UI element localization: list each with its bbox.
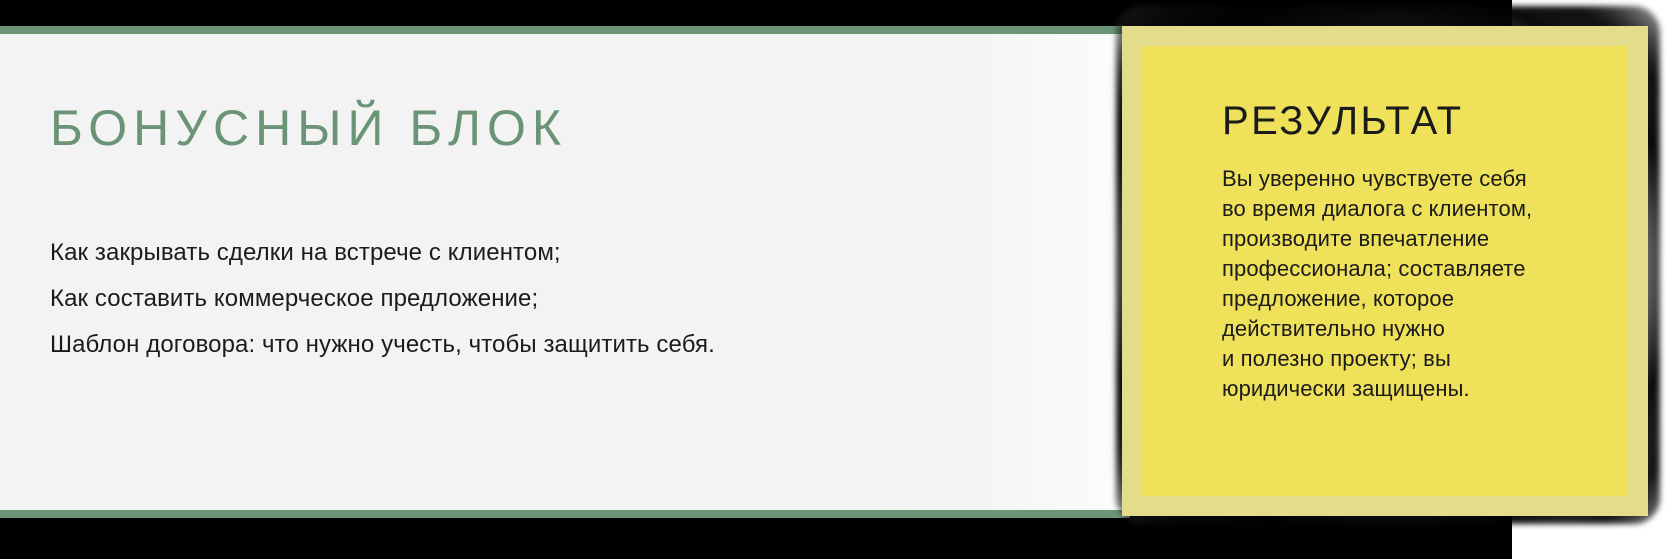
result-card-body: Вы уверенно чувствуете себя во время диа… — [1222, 164, 1622, 404]
bonus-panel-surface: БОНУСНЫЙ БЛОК Как закрывать сделки на вс… — [0, 34, 1122, 510]
result-body-line: производите впечатление — [1222, 224, 1622, 254]
bonus-panel: БОНУСНЫЙ БЛОК Как закрывать сделки на вс… — [0, 26, 1130, 518]
result-body-line: во время диалога с клиентом, — [1222, 194, 1622, 224]
bonus-panel-title: БОНУСНЫЙ БЛОК — [50, 102, 567, 155]
slide-root: БОНУСНЫЙ БЛОК Как закрывать сделки на вс… — [0, 0, 1680, 559]
result-body-line: и полезно проекту; вы — [1222, 344, 1622, 374]
bonus-list-item: Шаблон договора: что нужно учесть, чтобы… — [50, 322, 950, 368]
result-body-line: действительно нужно — [1222, 314, 1622, 344]
bonus-item-list: Как закрывать сделки на встрече с клиент… — [50, 230, 950, 368]
result-body-line: профессионала; составляете — [1222, 254, 1622, 284]
result-body-line: Вы уверенно чувствуете себя — [1222, 164, 1622, 194]
result-card-surface: РЕЗУЛЬТАТ Вы уверенно чувствуете себя во… — [1142, 46, 1628, 496]
bonus-list-item: Как закрывать сделки на встрече с клиент… — [50, 230, 950, 276]
result-body-line: предложение, которое — [1222, 284, 1622, 314]
result-body-line: юридически защищены. — [1222, 374, 1622, 404]
result-card-container: РЕЗУЛЬТАТ Вы уверенно чувствуете себя во… — [1122, 20, 1652, 522]
bonus-list-item: Как составить коммерческое предложение; — [50, 276, 950, 322]
result-card-title: РЕЗУЛЬТАТ — [1222, 100, 1463, 142]
result-card: РЕЗУЛЬТАТ Вы уверенно чувствуете себя во… — [1122, 26, 1648, 516]
